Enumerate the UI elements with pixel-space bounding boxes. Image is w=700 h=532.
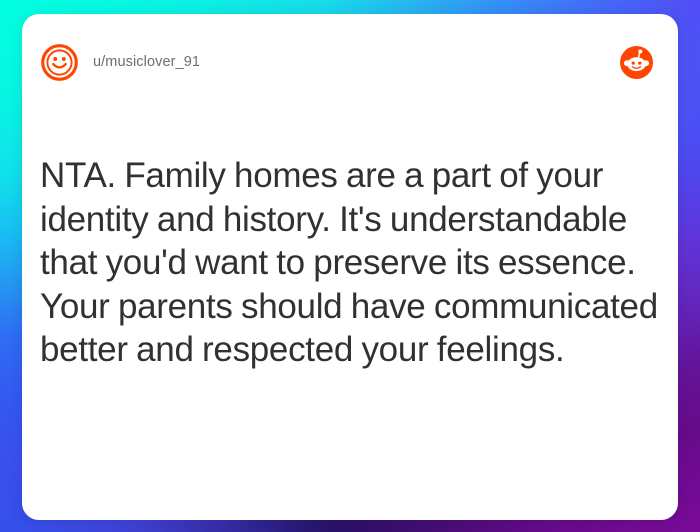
post-body-text: NTA. Family homes are a part of your ide…	[40, 154, 666, 372]
smiley-face-avatar-icon	[40, 43, 79, 82]
post-header: u/musiclover_91	[22, 14, 678, 110]
avatar[interactable]	[40, 43, 79, 82]
reddit-logo-button[interactable]	[620, 46, 653, 79]
reddit-post-card: u/musiclover_91 NTA. Family homes ar	[22, 14, 678, 520]
username-label: u/musiclover_91	[93, 54, 200, 70]
reddit-snoo-icon	[620, 46, 653, 79]
